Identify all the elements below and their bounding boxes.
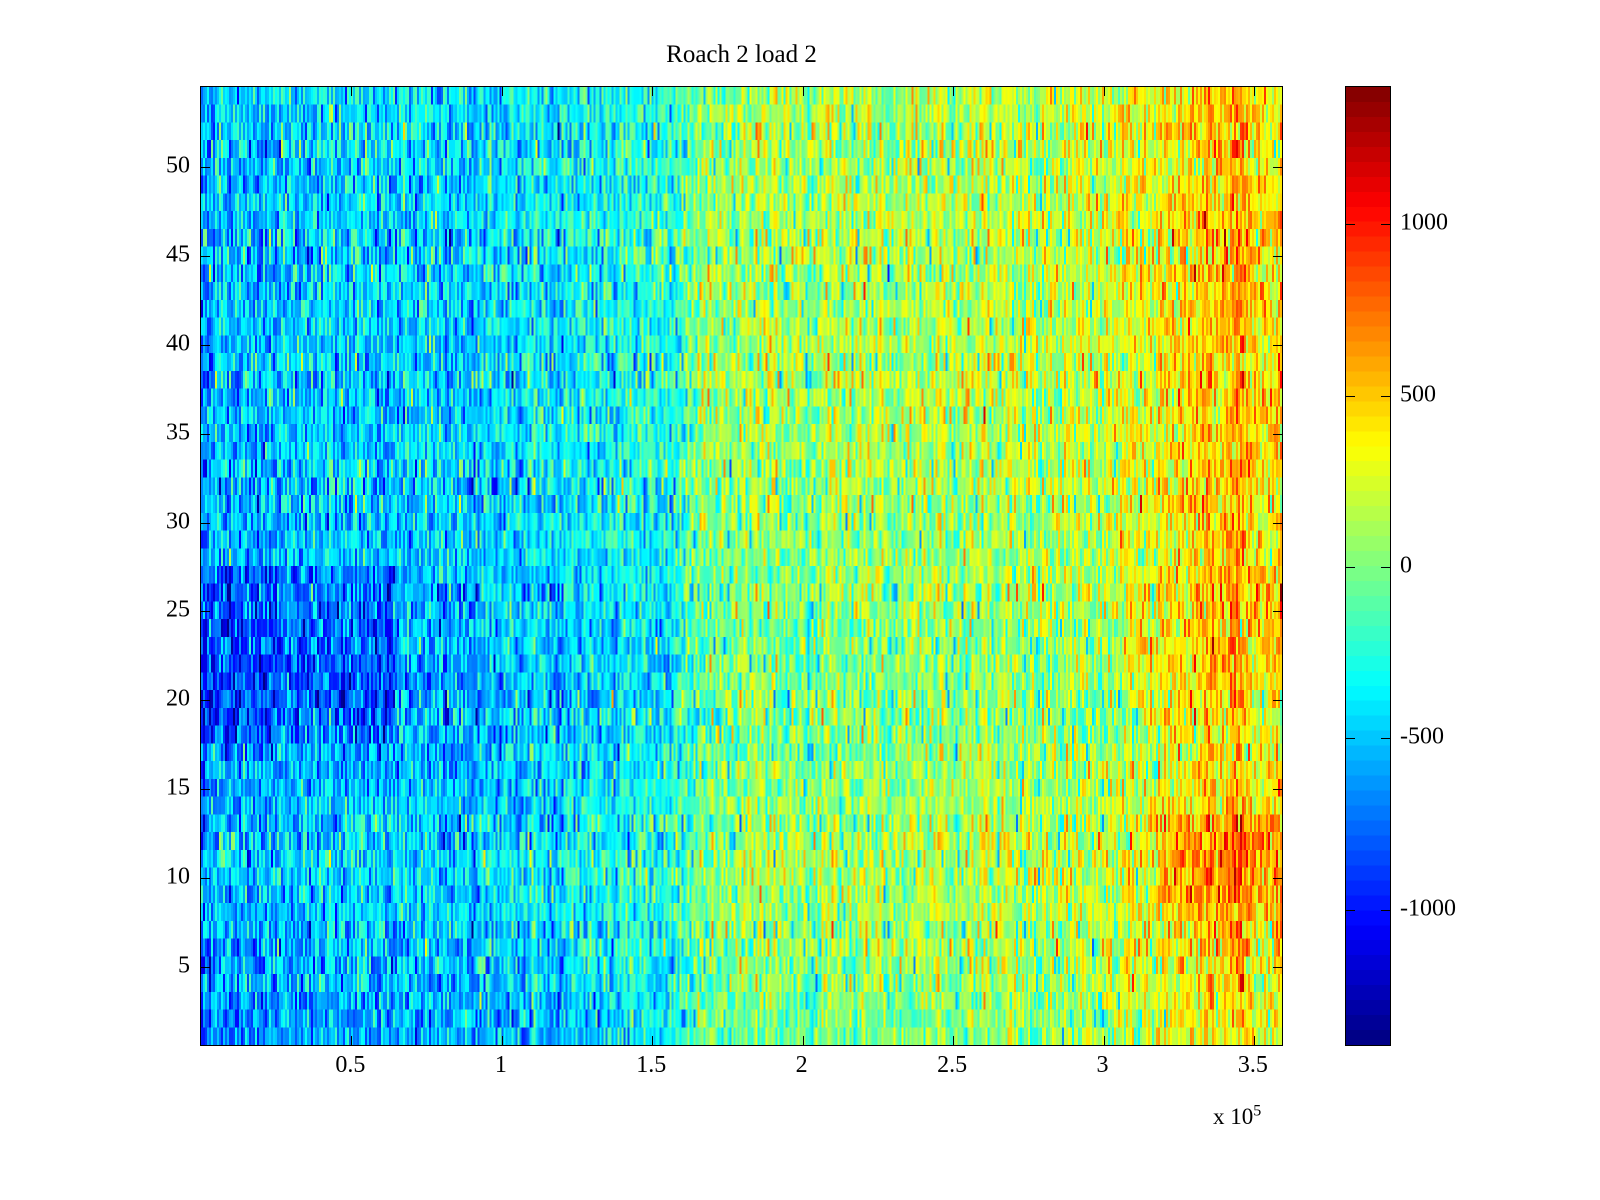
y-tick-mark <box>201 700 210 701</box>
x-tick-label: 0.5 <box>335 1052 365 1079</box>
x-axis-exponent-label: x 105 <box>1213 1104 1261 1130</box>
y-tick-label: 45 <box>166 241 190 268</box>
y-tick-label: 35 <box>166 419 190 446</box>
y-tick-mark <box>201 878 210 879</box>
x-tick-mark-top <box>351 87 352 96</box>
x-tick-label: 2 <box>796 1052 808 1079</box>
colorbar[interactable] <box>1345 86 1391 1046</box>
x-tick-mark-top <box>1254 87 1255 96</box>
colorbar-tick-mark <box>1346 224 1355 225</box>
x-tick-mark <box>502 1036 503 1045</box>
y-tick-mark-right <box>1273 167 1282 168</box>
page-title: Roach 2 load 2 <box>200 42 1283 67</box>
colorbar-tick-mark <box>1346 738 1355 739</box>
colorbar-tick-mark <box>1346 567 1355 568</box>
y-tick-mark <box>201 167 210 168</box>
y-tick-mark-right <box>1273 256 1282 257</box>
y-tick-mark-right <box>1273 700 1282 701</box>
colorbar-tick-mark-right <box>1381 738 1390 739</box>
x-exponent-base: x 10 <box>1213 1104 1253 1129</box>
y-tick-mark <box>201 256 210 257</box>
y-tick-mark <box>201 789 210 790</box>
y-tick-mark-right <box>1273 345 1282 346</box>
x-tick-label: 1.5 <box>636 1052 666 1079</box>
colorbar-tick-mark-right <box>1381 396 1390 397</box>
x-tick-mark <box>351 1036 352 1045</box>
colorbar-tick-label: 500 <box>1400 381 1436 408</box>
x-tick-mark <box>1104 1036 1105 1045</box>
colorbar-tick-mark <box>1346 396 1355 397</box>
colorbar-tick-label: 0 <box>1400 553 1412 580</box>
colorbar-gradient <box>1346 87 1390 1045</box>
x-tick-mark-top <box>803 87 804 96</box>
x-tick-mark <box>652 1036 653 1045</box>
y-tick-mark-right <box>1273 967 1282 968</box>
x-tick-mark-top <box>652 87 653 96</box>
heatmap-image <box>201 87 1282 1045</box>
figure-canvas: Roach 2 load 2 5101520253035404550 0.511… <box>0 0 1600 1200</box>
colorbar-tick-label: -1000 <box>1400 895 1456 922</box>
y-tick-label: 10 <box>166 864 190 891</box>
y-tick-label: 20 <box>166 686 190 713</box>
colorbar-tick-mark-right <box>1381 567 1390 568</box>
y-tick-mark <box>201 523 210 524</box>
y-tick-label: 30 <box>166 508 190 535</box>
colorbar-tick-mark-right <box>1381 224 1390 225</box>
y-tick-label: 25 <box>166 597 190 624</box>
y-tick-mark-right <box>1273 523 1282 524</box>
y-tick-label: 50 <box>166 153 190 180</box>
heatmap-axes[interactable] <box>200 86 1283 1046</box>
colorbar-tick-mark-right <box>1381 910 1390 911</box>
y-tick-mark-right <box>1273 434 1282 435</box>
x-tick-label: 3.5 <box>1238 1052 1268 1079</box>
colorbar-tick-label: 1000 <box>1400 210 1448 237</box>
x-tick-mark-top <box>953 87 954 96</box>
x-tick-label: 2.5 <box>937 1052 967 1079</box>
x-tick-mark <box>803 1036 804 1045</box>
x-tick-mark <box>953 1036 954 1045</box>
y-tick-mark-right <box>1273 611 1282 612</box>
x-tick-label: 1 <box>495 1052 507 1079</box>
x-tick-mark <box>1254 1036 1255 1045</box>
y-tick-mark <box>201 611 210 612</box>
y-tick-label: 5 <box>178 953 190 980</box>
x-tick-mark-top <box>1104 87 1105 96</box>
colorbar-tick-label: -500 <box>1400 724 1444 751</box>
x-exponent-power: 5 <box>1253 1102 1261 1119</box>
x-tick-label: 3 <box>1097 1052 1109 1079</box>
y-tick-mark-right <box>1273 878 1282 879</box>
y-tick-mark <box>201 345 210 346</box>
y-tick-mark-right <box>1273 789 1282 790</box>
y-tick-label: 15 <box>166 775 190 802</box>
colorbar-tick-mark <box>1346 910 1355 911</box>
y-tick-label: 40 <box>166 330 190 357</box>
y-tick-mark <box>201 434 210 435</box>
y-tick-mark <box>201 967 210 968</box>
x-tick-mark-top <box>502 87 503 96</box>
